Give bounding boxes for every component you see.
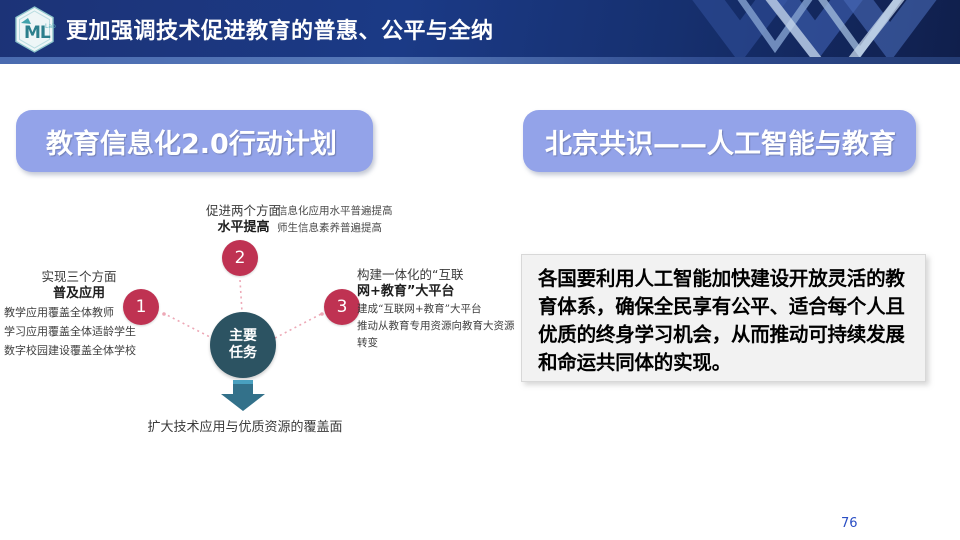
header-chevron-decoration — [660, 0, 960, 57]
down-arrow-icon — [217, 380, 269, 412]
node-1-item: 学习应用覆盖全体适龄学生 — [4, 322, 154, 341]
node-1-item: 数字校园建设覆盖全体学校 — [4, 341, 154, 360]
node-3-item: 推动从教育专用资源向教育大资源 — [357, 318, 509, 335]
node-3-heading: 构建一体化的“互联 — [357, 266, 509, 283]
diagram-node-1-text: 实现三个方面 普及应用 教学应用覆盖全体教师 学习应用覆盖全体适龄学生 数字校园… — [4, 268, 154, 360]
node-1-item: 教学应用覆盖全体教师 — [4, 303, 154, 322]
section-pill-right-label: 北京共识——人工智能与教育 — [545, 122, 896, 161]
node-3-subheading: 网+教育”大平台 — [357, 283, 509, 301]
node-3-item: 建成“互联网+教育”大平台 — [357, 301, 509, 318]
diagram-caption: 扩大技术应用与优质资源的覆盖面 — [120, 416, 370, 435]
diagram-node-2[interactable]: 2 — [222, 240, 258, 276]
node-1-heading: 实现三个方面 — [4, 268, 154, 285]
section-pill-left-label: 教育信息化2.0行动计划 — [46, 122, 337, 161]
diagram-center-line2: 任务 — [229, 345, 257, 362]
consensus-quote-text: 各国要利用人工智能加快建设开放灵活的教育体系，确保全民享有公平、适合每个人且优质… — [538, 265, 911, 377]
slide-header: ML Lab 更加强调技术促进教育的普惠、公平与全纳 — [0, 0, 960, 57]
page-title: 更加强调技术促进教育的普惠、公平与全纳 — [66, 13, 494, 45]
node-3-item: 转变 — [357, 335, 509, 352]
node-2-item: 信息化应用水平普遍提高 — [277, 203, 427, 220]
diagram-center-line1: 主要 — [229, 328, 257, 345]
header-accent-strip — [0, 57, 960, 64]
diagram-center-node[interactable]: 主要 任务 — [210, 312, 276, 378]
node-1-subheading: 普及应用 — [4, 285, 154, 303]
section-pill-left[interactable]: 教育信息化2.0行动计划 — [16, 110, 373, 172]
diagram-node-2-items: 信息化应用水平普遍提高 师生信息素养普遍提高 — [277, 203, 427, 237]
page-number: 76 — [841, 516, 858, 531]
diagram-node-3-text: 构建一体化的“互联 网+教育”大平台 建成“互联网+教育”大平台 推动从教育专用… — [357, 266, 509, 352]
brand-logo: ML Lab — [11, 6, 58, 53]
diagram-node-3[interactable]: 3 — [324, 289, 360, 325]
consensus-quote-box: 各国要利用人工智能加快建设开放灵活的教育体系，确保全民享有公平、适合每个人且优质… — [521, 254, 926, 382]
section-pill-right[interactable]: 北京共识——人工智能与教育 — [523, 110, 916, 172]
diagram-node-3-number: 3 — [337, 297, 348, 317]
diagram-node-2-number: 2 — [235, 248, 246, 268]
svg-text:Lab: Lab — [45, 23, 56, 30]
node-2-item: 师生信息素养普遍提高 — [277, 220, 427, 237]
